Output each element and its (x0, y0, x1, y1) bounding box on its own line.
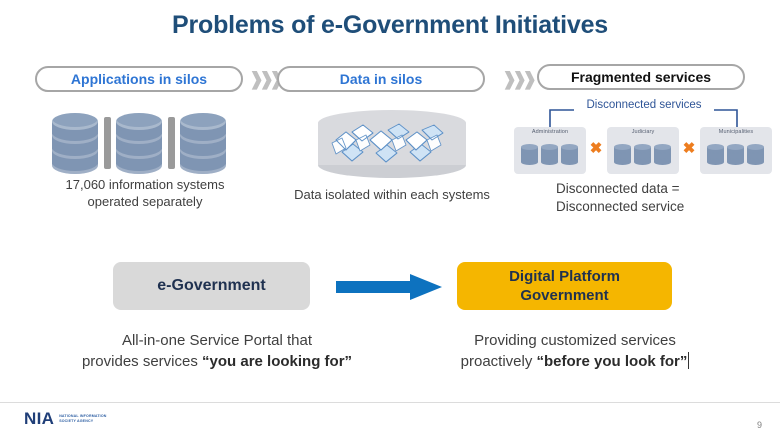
database-stack (116, 113, 162, 173)
mini-database-stack (747, 144, 764, 168)
agency-box-administration: Administration (514, 127, 586, 174)
nia-logo-text: NIA (24, 409, 54, 429)
nia-logo: NIA NATIONAL INFORMATION SOCIETY AGENCY (24, 409, 113, 429)
disconnected-agencies-icon: Disconnected services Administration ✖ J… (512, 101, 774, 179)
agency-box-municipalities: Municipalities (700, 127, 772, 174)
egovernment-caption: All-in-one Service Portal that provides … (72, 330, 362, 372)
right-arrow-icon (336, 274, 442, 300)
flow-step-label: Data in silos (340, 71, 422, 87)
cylinder-crystals-icon (318, 110, 466, 178)
flow-step-fragmented-services[interactable]: Fragmented services (537, 64, 745, 90)
database-stack (52, 113, 98, 173)
flow-step-label: Applications in silos (71, 71, 207, 87)
egovernment-label: e-Government (157, 277, 265, 295)
double-chevron-right-icon: ❱❱❱ (502, 68, 526, 90)
egovernment-box[interactable]: e-Government (113, 262, 310, 310)
x-break-icon: ✖ (681, 141, 697, 157)
page-title: Problems of e-Government Initiatives (0, 11, 780, 40)
dpg-label-line1: Digital Platform (509, 267, 620, 286)
mini-database-stack (541, 144, 558, 168)
caption-line: provides services (82, 353, 202, 370)
mini-database-stack (521, 144, 538, 168)
silo-divider-bar (104, 117, 111, 169)
bracket-label: Disconnected services (574, 99, 714, 111)
agency-label: Administration (514, 129, 586, 135)
mini-database-stack (727, 144, 744, 168)
caption-line: operated separately (88, 194, 203, 209)
mini-database-stack (634, 144, 651, 168)
column-caption-applications: 17,060 information systems operated sepa… (20, 176, 270, 210)
flow-step-label: Fragmented services (571, 69, 711, 85)
mini-database-stack (561, 144, 578, 168)
agency-label: Judiciary (607, 129, 679, 135)
caption-line: Disconnected data = (556, 181, 679, 196)
database-stacks-icon (52, 113, 242, 175)
caption-emphasis: “before you look for” (537, 353, 688, 370)
text-cursor-caret (688, 352, 689, 369)
footer-divider (0, 402, 780, 403)
caption-line: proactively (461, 353, 537, 370)
mini-database-stack (614, 144, 631, 168)
database-stack (180, 113, 226, 173)
silo-divider-bar (168, 117, 175, 169)
flow-step-applications-in-silos[interactable]: Applications in silos (35, 66, 243, 92)
crystal-cluster-icon (318, 110, 466, 178)
caption-line: All-in-one Service Portal that (122, 332, 312, 349)
caption-line: Providing customized services (474, 332, 676, 349)
caption-line: Disconnected service (556, 199, 684, 214)
page-number: 9 (757, 420, 762, 430)
caption-line: Data isolated within each systems (294, 187, 490, 202)
flow-step-data-in-silos[interactable]: Data in silos (277, 66, 485, 92)
column-caption-fragmented: Disconnected data = Disconnected service (556, 180, 776, 216)
digital-platform-government-box[interactable]: Digital Platform Government (457, 262, 672, 310)
x-break-icon: ✖ (588, 141, 604, 157)
agency-label: Municipalities (700, 129, 772, 135)
column-caption-data: Data isolated within each systems (282, 186, 502, 203)
mini-database-stack (654, 144, 671, 168)
mini-database-stack (707, 144, 724, 168)
caption-line: 17,060 information systems (66, 177, 225, 192)
caption-emphasis: “you are looking for” (202, 353, 352, 370)
nia-logo-subtitle: NATIONAL INFORMATION SOCIETY AGENCY (59, 414, 113, 423)
dpg-caption: Providing customized services proactivel… (430, 330, 720, 372)
double-chevron-right-icon: ❱❱❱ (249, 68, 273, 90)
agency-box-judiciary: Judiciary (607, 127, 679, 174)
dpg-label-line2: Government (520, 286, 608, 305)
